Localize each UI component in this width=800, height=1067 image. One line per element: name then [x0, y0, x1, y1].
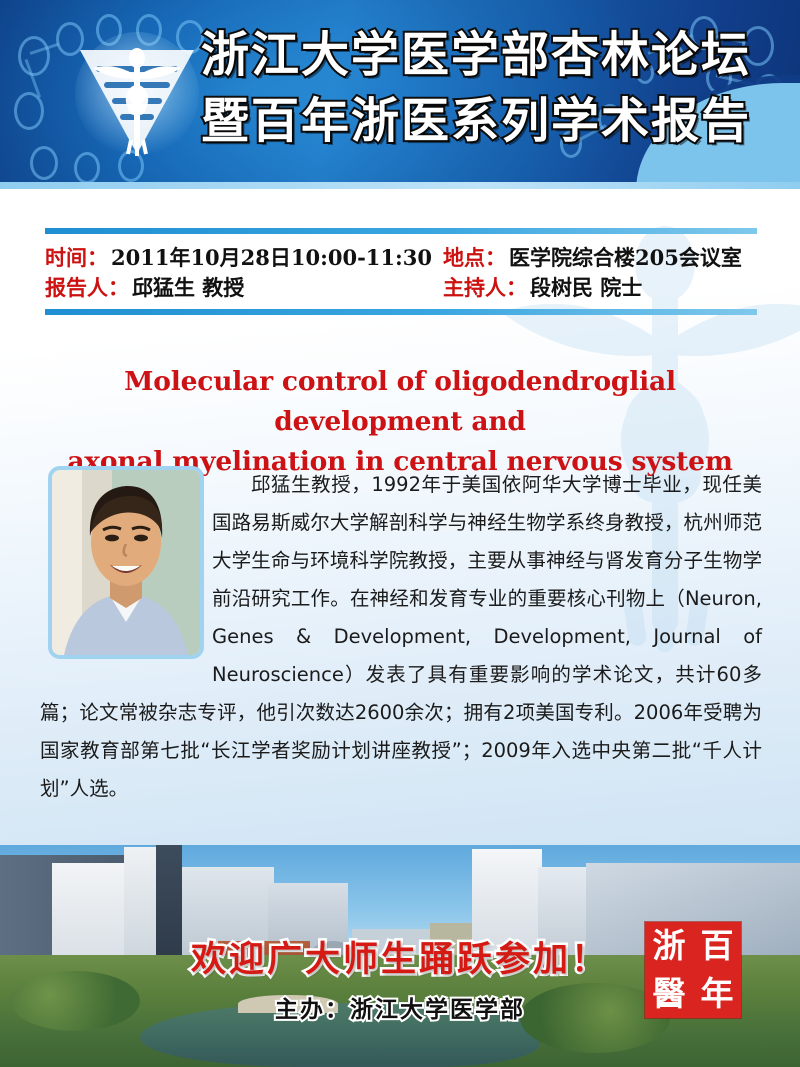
talk-title-line-1: Molecular control of oligodendroglial de… — [40, 362, 760, 442]
info-row-time-place: 时间： 2011年10月28日10:00-11:30 地点： 医学院综合楼205… — [45, 243, 757, 273]
caduceus-icon — [62, 22, 212, 172]
header-title-line-2: 暨百年浙医系列学术报告 — [196, 88, 756, 154]
host-value: 段树民 院士 — [530, 273, 642, 303]
seal-char-3: 醫 — [645, 970, 693, 1018]
speaker-value: 邱猛生 教授 — [132, 273, 244, 303]
info-rule-bottom — [45, 309, 757, 315]
place-label: 地点： — [443, 243, 506, 273]
talk-title: Molecular control of oligodendroglial de… — [40, 362, 760, 482]
info-place: 地点： 医学院综合楼205会议室 — [443, 243, 742, 273]
header-title-line-1: 浙江大学医学部杏林论坛 — [196, 22, 756, 88]
info-rows: 时间： 2011年10月28日10:00-11:30 地点： 医学院综合楼205… — [45, 234, 757, 309]
speaker-label: 报告人： — [45, 273, 129, 303]
event-info-box: 时间： 2011年10月28日10:00-11:30 地点： 医学院综合楼205… — [45, 228, 757, 315]
info-row-speaker-host: 报告人： 邱猛生 教授 主持人： 段树民 院士 — [45, 273, 757, 303]
centennial-seal: 浙 百 醫 年 — [645, 922, 741, 1018]
place-value: 医学院综合楼205会议室 — [509, 243, 742, 273]
header-banner: 浙江大学医学部杏林论坛 暨百年浙医系列学术报告 — [0, 0, 800, 185]
info-time: 时间： 2011年10月28日10:00-11:30 — [45, 243, 443, 273]
header-underline — [0, 182, 800, 189]
host-label: 主持人： — [443, 273, 527, 303]
time-value: 2011年10月28日10:00-11:30 — [111, 243, 432, 273]
seal-char-4: 年 — [693, 970, 741, 1018]
seal-char-1: 浙 — [645, 922, 693, 970]
speaker-portrait — [48, 466, 204, 659]
seal-char-2: 百 — [693, 922, 741, 970]
info-speaker: 报告人： 邱猛生 教授 — [45, 273, 443, 303]
poster-root: 浙江大学医学部杏林论坛 暨百年浙医系列学术报告 — [0, 0, 800, 1067]
time-label: 时间： — [45, 243, 108, 273]
header-title-block: 浙江大学医学部杏林论坛 暨百年浙医系列学术报告 — [196, 22, 756, 154]
info-host: 主持人： 段树民 院士 — [443, 273, 642, 303]
